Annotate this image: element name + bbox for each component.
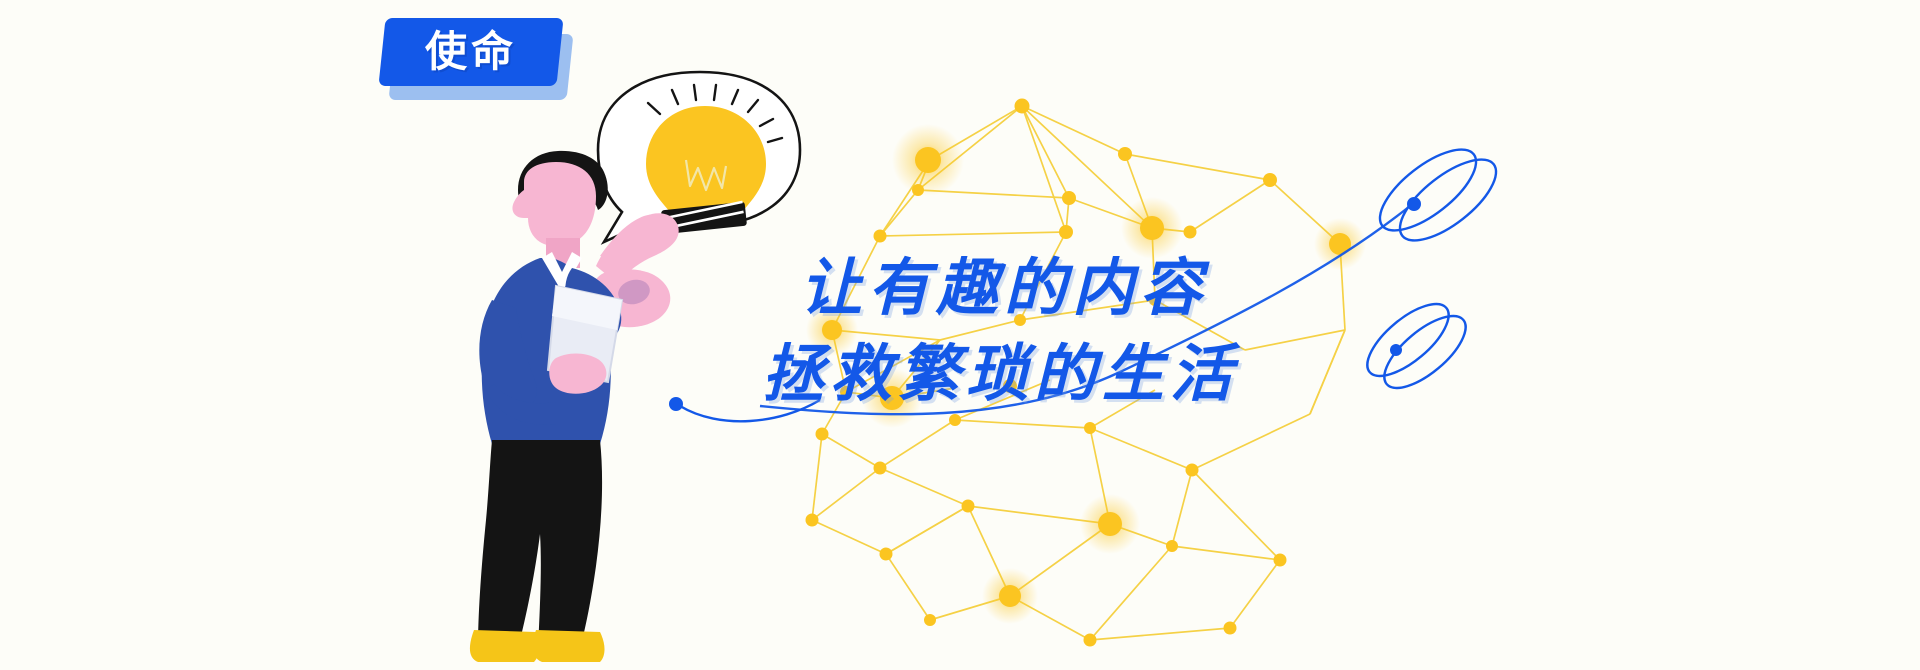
pants [478,440,602,648]
pointing-person [0,0,1920,670]
idea-bubble [598,72,800,242]
shoe-left [470,630,539,662]
banner-canvas: 使命 让有趣的内容 拯救繁琐的生活 [0,0,1920,670]
shoe-right [533,630,605,662]
